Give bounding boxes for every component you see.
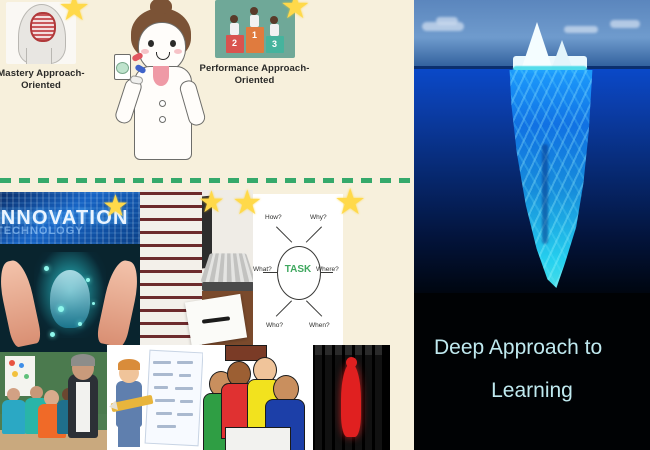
mindmap-label-who: Who? [266, 322, 283, 329]
mindmap-label-why: Why? [310, 214, 327, 221]
dashed-divider [0, 178, 414, 183]
performance-approach-label-line2: Oriented [192, 75, 317, 87]
iceberg-image-panel: Deep Approach to Learning [414, 0, 650, 450]
podium-person-first [250, 7, 258, 27]
mastery-approach-label-line1: Mastery Approach- [0, 68, 96, 80]
mindmap-center-label: TASK [277, 264, 319, 275]
left-content-panel: Mastery Approach- Oriented 2 1 3 Perform… [0, 0, 414, 450]
mastery-approach-block: Mastery Approach- Oriented [0, 2, 96, 92]
mindmap-label-what: What? [253, 266, 272, 273]
learning-collage: TECHNOLOGY INNOVATION [0, 190, 414, 450]
nurse-teacher-illustration [110, 0, 210, 161]
red-figure-crowd-tile [313, 345, 390, 450]
podium-block-third: 3 [266, 36, 284, 53]
innovation-text: INNOVATION [0, 207, 140, 230]
podium-winners-icon: 2 1 3 [215, 0, 295, 58]
performance-approach-block: 2 1 3 Performance Approach- Oriented [192, 0, 317, 87]
performance-approach-label-line1: Performance Approach- [192, 63, 317, 75]
slide-canvas: Mastery Approach- Oriented 2 1 3 Perform… [0, 0, 650, 450]
podium-person-third [270, 16, 278, 36]
group-discussion-tile [203, 345, 313, 450]
caption-line-1: Deep Approach to [434, 336, 602, 360]
mastery-approach-label-line2: Oriented [0, 80, 96, 92]
mindmap-label-where: Where? [316, 266, 339, 273]
podium-person-second [230, 15, 238, 35]
iceberg-tip [511, 12, 589, 70]
head-brain-icon [6, 2, 76, 64]
classroom-teacher-tile [0, 352, 107, 450]
podium-block-second: 2 [226, 35, 244, 53]
mindmap-label-when: When? [309, 322, 330, 329]
innovation-banner-tile: TECHNOLOGY INNOVATION [0, 192, 140, 244]
task-mindmap-tile: TASK How? Why? What? Where? Who? When? [253, 194, 343, 349]
podium-block-first: 1 [246, 27, 264, 53]
caption-line-2: Learning [414, 379, 650, 403]
person-writing-tile [107, 345, 203, 450]
books-laptop-tile [140, 190, 253, 350]
mindmap-label-how: How? [265, 214, 282, 221]
brain-spiral-shape [30, 12, 56, 42]
head-neck-shape [26, 48, 52, 64]
deep-dark-background [414, 293, 650, 450]
hands-glowing-brain-tile [0, 244, 140, 352]
